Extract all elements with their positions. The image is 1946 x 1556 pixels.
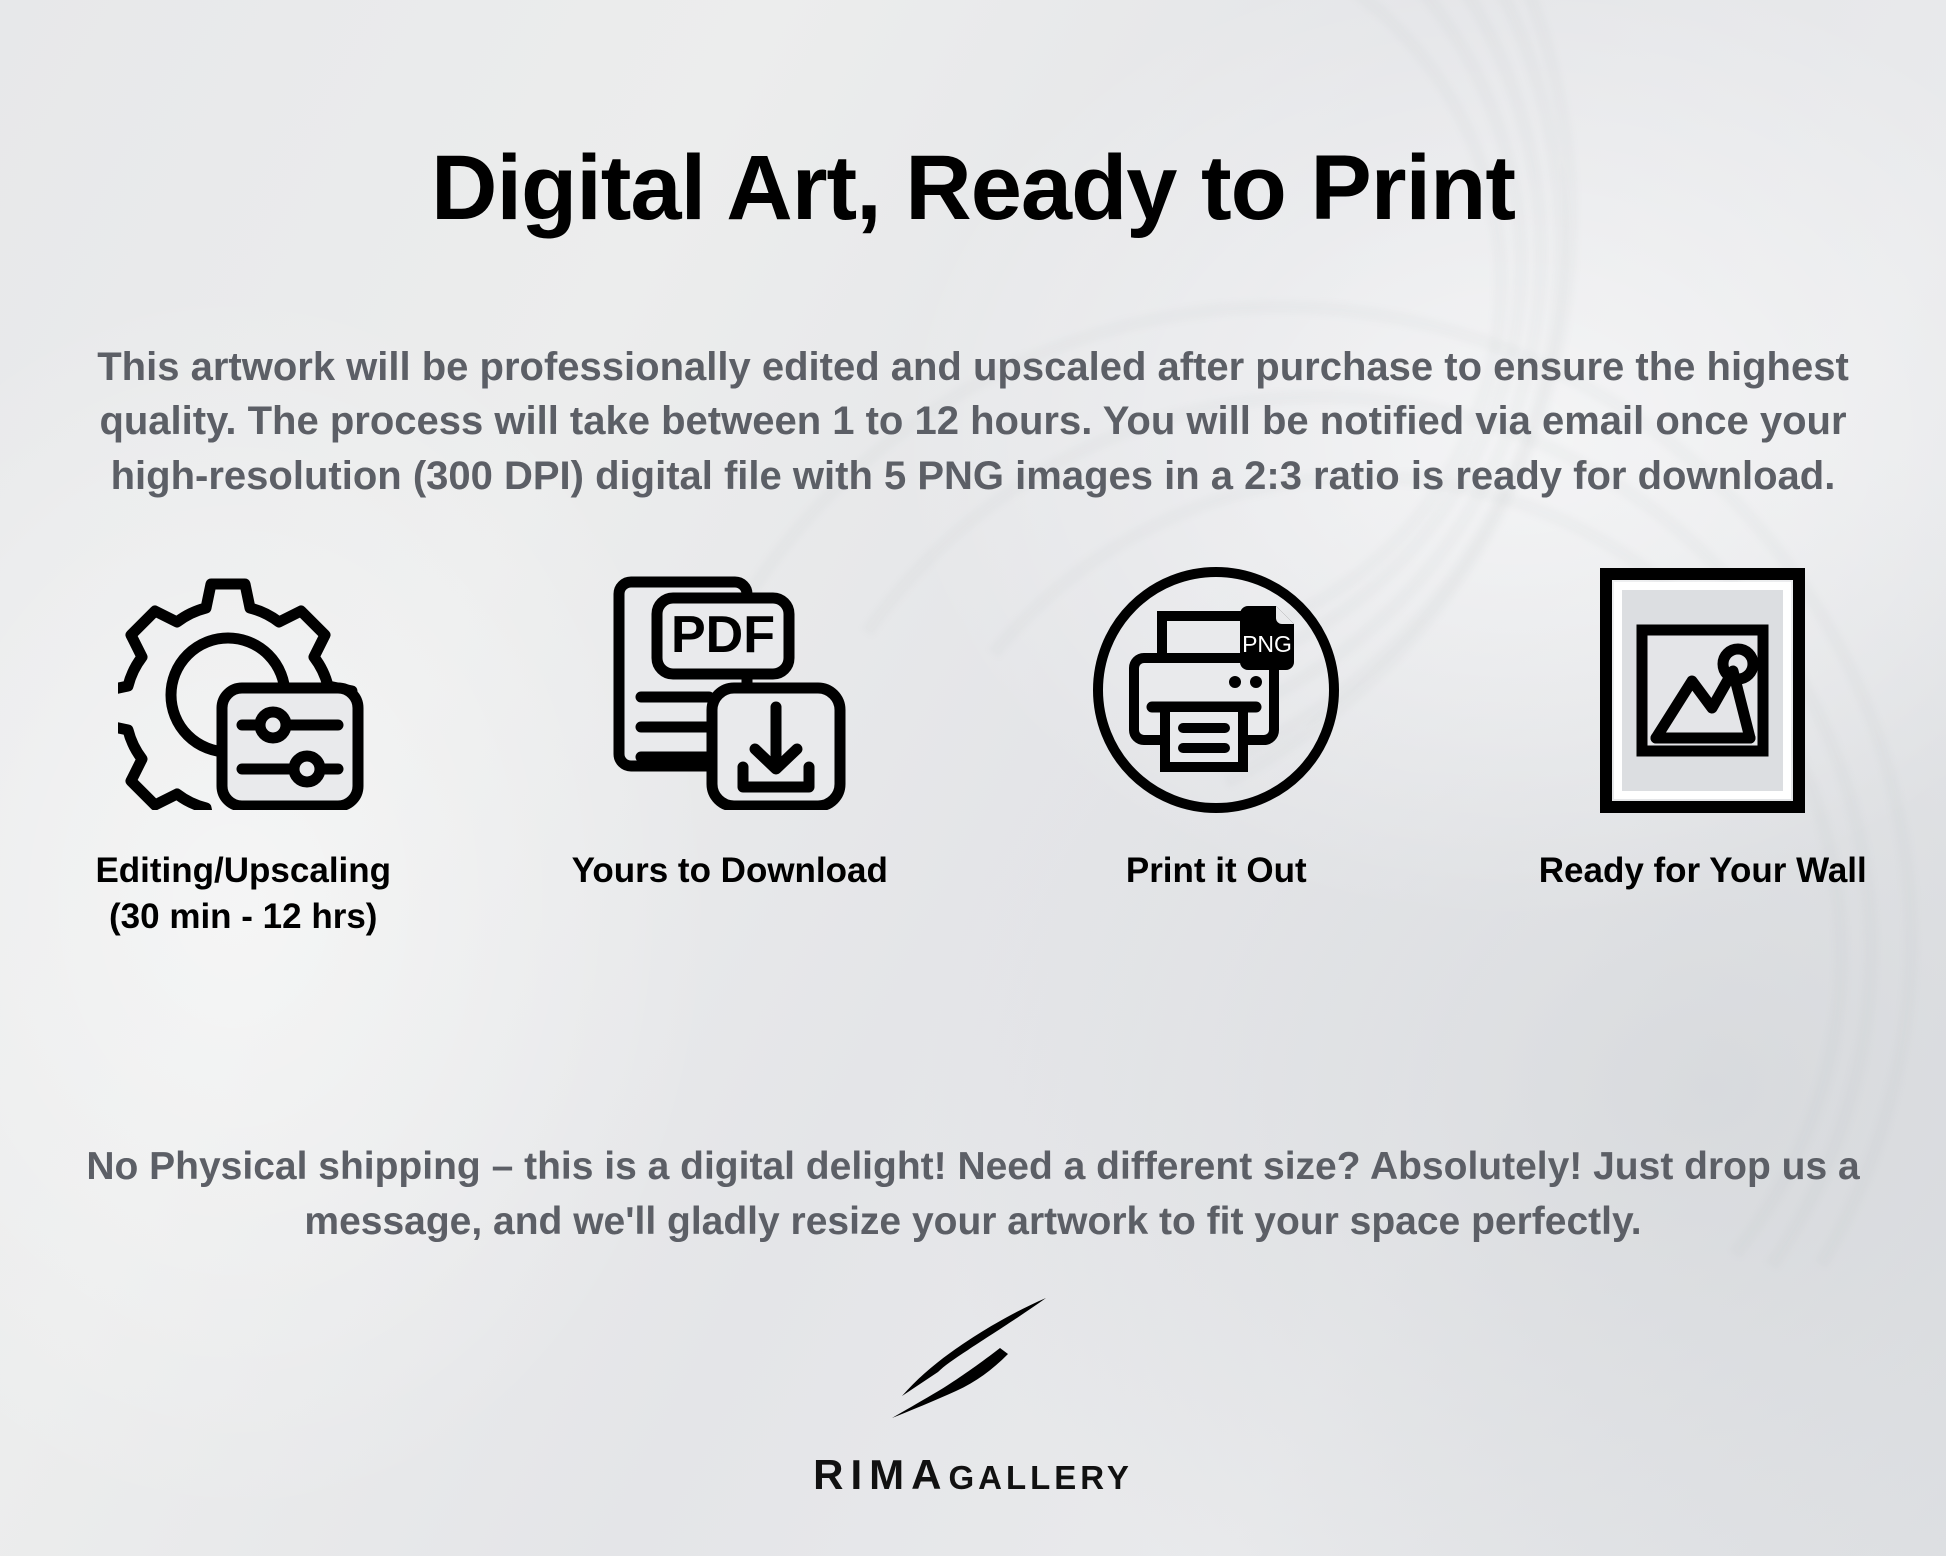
feature-label-editing-upscaling: Editing/Upscaling (30 min - 12 hrs) <box>95 848 391 940</box>
feature-row: Editing/Upscaling (30 min - 12 hrs) PDF <box>0 560 1946 940</box>
png-badge-text: PNG <box>1242 631 1292 657</box>
pdf-download-icon: PDF <box>605 560 855 820</box>
brand-footer: RIMA GALLERY <box>0 1290 1946 1499</box>
brand-wordmark: RIMA GALLERY <box>813 1451 1133 1499</box>
feature-item-editing-upscaling: Editing/Upscaling (30 min - 12 hrs) <box>28 560 458 940</box>
feature-item-download: PDF Yours to Download <box>515 560 945 894</box>
outro-paragraph: No Physical shipping – this is a digital… <box>53 1139 1893 1250</box>
promo-graphic-page: Digital Art, Ready to Print This artwork… <box>0 0 1946 1556</box>
gear-sliders-icon <box>118 560 368 820</box>
pdf-badge-text: PDF <box>671 606 775 664</box>
page-title: Digital Art, Ready to Print <box>0 140 1946 237</box>
feature-item-print: PNG Print it Out <box>1001 560 1431 894</box>
feature-label-wall: Ready for Your Wall <box>1539 848 1867 894</box>
brand-name-secondary: GALLERY <box>948 1459 1132 1497</box>
brand-name-primary: RIMA <box>813 1451 948 1499</box>
framed-picture-icon <box>1600 560 1805 820</box>
feature-label-print: Print it Out <box>1126 848 1307 894</box>
intro-paragraph: This artwork will be professionally edit… <box>58 340 1888 503</box>
printer-circle-icon: PNG <box>1090 560 1342 820</box>
feature-label-download: Yours to Download <box>572 848 888 894</box>
feature-item-wall: Ready for Your Wall <box>1488 560 1918 894</box>
rima-swoosh-logo <box>858 1290 1088 1447</box>
